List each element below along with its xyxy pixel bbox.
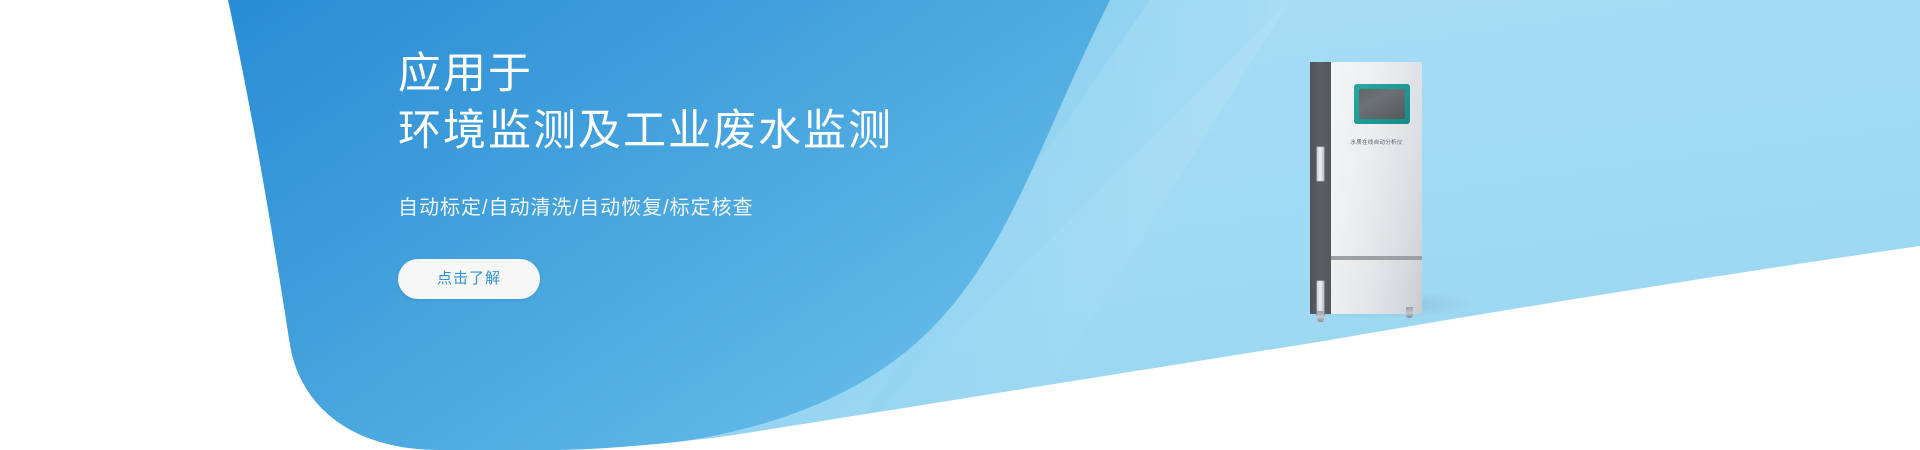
device-screen-bezel xyxy=(1354,84,1410,124)
learn-more-button[interactable]: 点击了解 xyxy=(398,259,540,299)
headline-line-1: 应用于 xyxy=(398,50,533,98)
device-screen xyxy=(1359,89,1405,119)
device-handle-upper-icon xyxy=(1316,146,1325,182)
hero-banner: 应用于 环境监测及工业废水监测 自动标定/自动清洗/自动恢复/标定核查 点击了解… xyxy=(0,0,1920,450)
product-image-analyzer: 水质在线自动分析仪 xyxy=(1310,62,1422,314)
headline-line-2: 环境监测及工业废水监测 xyxy=(398,107,893,155)
hero-subtitle: 自动标定/自动清洗/自动恢复/标定核查 xyxy=(398,160,1158,222)
device-side-panel xyxy=(1310,62,1331,314)
device-caster-right-icon xyxy=(1406,307,1413,318)
device-lower-cabinet xyxy=(1331,260,1422,314)
page-title: 应用于 环境监测及工业废水监测 xyxy=(398,46,1158,160)
device-model-label: 水质在线自动分析仪 xyxy=(1331,138,1422,146)
device-caster-left-icon xyxy=(1317,311,1324,322)
hero-copy: 应用于 环境监测及工业废水监测 自动标定/自动清洗/自动恢复/标定核查 点击了解 xyxy=(398,46,1158,299)
